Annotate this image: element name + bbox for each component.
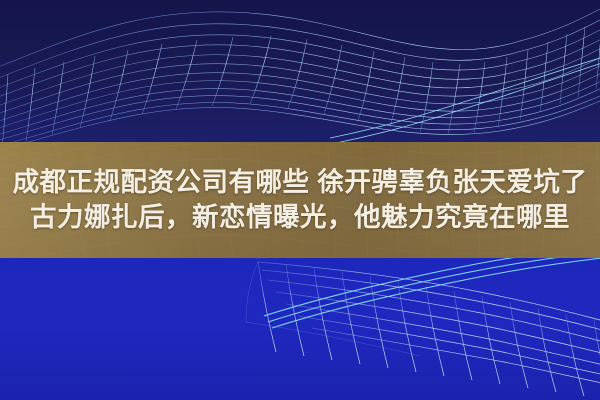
headline-line-1: 成都正规配资公司有哪些 徐开骋辜负张天爱坑了 <box>13 168 588 197</box>
banner-image: 成都正规配资公司有哪些 徐开骋辜负张天爱坑了 古力娜扎后，新恋情曝光，他魅力究竟… <box>0 0 600 400</box>
headline-line-2: 古力娜扎后，新恋情曝光，他魅力究竟在哪里 <box>30 203 570 232</box>
headline-block: 成都正规配资公司有哪些 徐开骋辜负张天爱坑了 古力娜扎后，新恋情曝光，他魅力究竟… <box>0 142 600 258</box>
sky-region <box>0 0 600 152</box>
sea-region <box>0 256 600 400</box>
